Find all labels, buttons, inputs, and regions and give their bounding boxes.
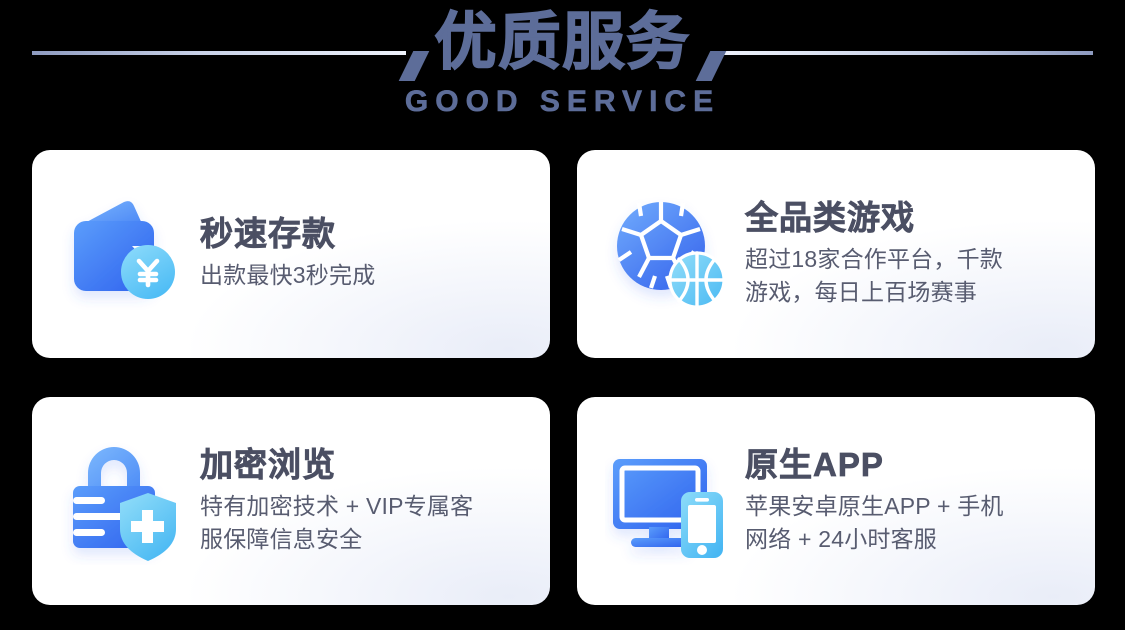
page-header: 优质服务 GOOD SERVICE [0, 0, 1125, 150]
card-title: 秒速存款 [200, 215, 375, 253]
card-subtitle-line: 特有加密技术 + VIP专属客 [200, 490, 473, 523]
card-subtitle-line: 服保障信息安全 [200, 523, 473, 556]
card-title: 加密浏览 [200, 446, 473, 484]
monitor-phone-icon [605, 437, 733, 565]
service-card-games[interactable]: 全品类游戏 超过18家合作平台，千款 游戏，每日上百场赛事 [577, 150, 1095, 358]
service-card-text: 全品类游戏 超过18家合作平台，千款 游戏，每日上百场赛事 [745, 199, 1017, 310]
page-title: 优质服务 [434, 6, 690, 79]
card-subtitle: 超过18家合作平台，千款 游戏，每日上百场赛事 [745, 243, 1003, 310]
service-card-native-app[interactable]: 原生APP 苹果安卓原生APP + 手机 网络 + 24小时客服 [577, 397, 1095, 605]
page-subtitle: GOOD SERVICE [405, 85, 720, 119]
service-card-deposit[interactable]: 秒速存款 出款最快3秒完成 [32, 150, 550, 358]
card-subtitle-line: 苹果安卓原生APP + 手机 [745, 490, 1004, 523]
soccer-basketball-icon [605, 190, 733, 318]
card-subtitle: 特有加密技术 + VIP专属客 服保障信息安全 [200, 490, 473, 557]
lock-shield-icon [60, 437, 188, 565]
card-subtitle-line: 出款最快3秒完成 [200, 259, 375, 292]
card-title: 全品类游戏 [745, 199, 1003, 237]
service-card-encryption[interactable]: 加密浏览 特有加密技术 + VIP专属客 服保障信息安全 [32, 397, 550, 605]
card-subtitle-line: 网络 + 24小时客服 [745, 523, 1004, 556]
wallet-yen-icon [60, 190, 188, 318]
service-card-text: 加密浏览 特有加密技术 + VIP专属客 服保障信息安全 [200, 446, 487, 557]
card-title: 原生APP [745, 446, 1004, 484]
service-card-text: 秒速存款 出款最快3秒完成 [200, 215, 389, 292]
card-subtitle: 出款最快3秒完成 [200, 259, 375, 292]
service-card-grid: 秒速存款 出款最快3秒完成 [32, 150, 1095, 605]
service-card-text: 原生APP 苹果安卓原生APP + 手机 网络 + 24小时客服 [745, 446, 1018, 557]
card-subtitle: 苹果安卓原生APP + 手机 网络 + 24小时客服 [745, 490, 1004, 557]
header-text-group: 优质服务 GOOD SERVICE [0, 0, 1125, 119]
card-subtitle-line: 超过18家合作平台，千款 [745, 243, 1003, 276]
card-subtitle-line: 游戏，每日上百场赛事 [745, 276, 1003, 309]
